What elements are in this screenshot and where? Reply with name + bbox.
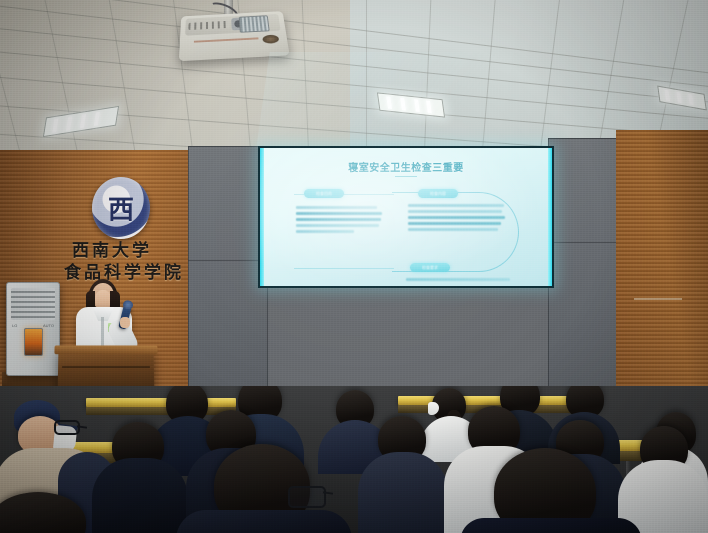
slide-text-block-left xyxy=(296,206,390,236)
floor-air-conditioner: LG AUTO xyxy=(6,282,60,376)
slide-pill-label: 检查目的 xyxy=(304,189,344,198)
wood-panel-wall-right xyxy=(616,130,708,400)
air-conditioner-vents xyxy=(11,288,55,320)
slide-text-line xyxy=(408,228,498,231)
college-name-text: 食品科学学院 xyxy=(64,258,184,283)
eyeglasses-icon xyxy=(54,420,80,435)
lecture-hall-photo: 西 西南大学 食品科学学院 寝室安全卫生检查三重要 检查目的 检查内容 检查要求 xyxy=(0,0,708,533)
slide-pill-text: 检查目的 xyxy=(304,189,344,198)
slide-text-line xyxy=(296,224,379,227)
air-conditioner-mode-label: AUTO xyxy=(43,323,54,328)
audience-shoulders xyxy=(176,510,352,533)
slide-text-line xyxy=(408,204,504,207)
audience-shoulders xyxy=(358,452,448,533)
university-emblem-icon: 西 xyxy=(92,177,150,239)
slide-text-line xyxy=(296,230,354,233)
slide-text-line xyxy=(408,210,502,213)
slide-divider-bottom xyxy=(294,268,394,269)
lecture-desk xyxy=(398,396,590,405)
wall-panel-seam xyxy=(188,260,266,261)
slide-text-line xyxy=(296,218,381,221)
projection-screen: 寝室安全卫生检查三重要 检查目的 检查内容 检查要求 xyxy=(260,148,552,286)
podium-top-surface xyxy=(54,345,157,354)
wall-panel-seam xyxy=(548,242,620,243)
air-conditioner-display xyxy=(24,328,43,356)
projector-grille xyxy=(239,15,270,33)
presenter-hand xyxy=(120,317,130,328)
audience-shoulders xyxy=(92,458,188,533)
slide-text-block-right xyxy=(408,204,508,234)
air-conditioner-brand-label: LG xyxy=(12,323,17,328)
ceiling-projector xyxy=(179,11,290,61)
slide-title-underline xyxy=(395,176,417,177)
lecture-desk xyxy=(86,398,236,407)
podium-edge xyxy=(62,366,150,368)
slide-text-line xyxy=(408,222,501,225)
wall-panel xyxy=(548,138,622,398)
slide-title: 寝室安全卫生检查三重要 xyxy=(260,159,552,174)
lecture-desk-front xyxy=(86,407,236,415)
slide-text-line xyxy=(408,216,505,219)
microphone-head xyxy=(122,299,134,310)
projector-accent-stripe xyxy=(194,37,259,42)
slide-pill-text: 检查要求 xyxy=(410,263,450,272)
slide-pill-text: 检查内容 xyxy=(418,189,458,198)
slide-text-line xyxy=(296,206,377,209)
slide-pill-label: 检查要求 xyxy=(410,263,450,272)
projector-lens xyxy=(262,34,279,43)
slide-footer-text xyxy=(406,278,510,281)
audience-shoulders xyxy=(460,518,642,533)
slide-pill-label: 检查内容 xyxy=(418,189,458,198)
emblem-mark: 西 xyxy=(108,190,134,227)
eyeglasses-icon xyxy=(288,486,326,508)
wall-panel xyxy=(188,146,268,398)
projection-screen-frame: 寝室安全卫生检查三重要 检查目的 检查内容 检查要求 xyxy=(258,146,554,288)
slide-text-line xyxy=(296,212,382,215)
audience-area xyxy=(0,386,708,533)
